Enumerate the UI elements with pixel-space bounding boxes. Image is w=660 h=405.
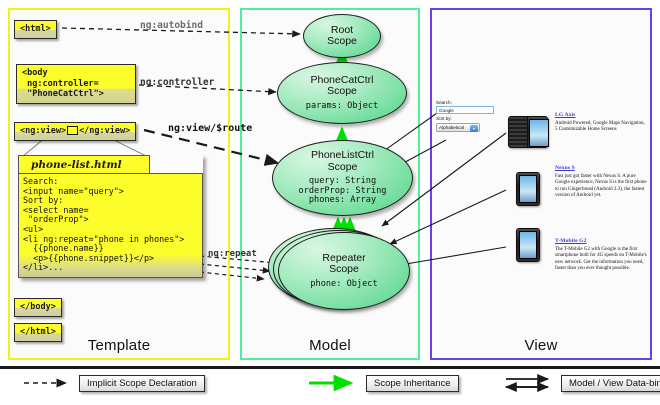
- panel-label-model: Model: [242, 337, 418, 354]
- code-card-phone-list: phone-list.html Search: <input name="que…: [18, 155, 203, 278]
- edge-label-ng-autobind: ng:autobind: [140, 20, 203, 31]
- phone-link-lg-axis[interactable]: LG Axis: [555, 112, 647, 118]
- scope-phonelistctrl-title: PhoneListCtrl Scope: [311, 150, 374, 173]
- legend-item-implicit-scope-declaration: Implicit Scope Declaration: [18, 374, 205, 392]
- sort-select[interactable]: Alphabetical▾: [436, 123, 480, 132]
- scope-root: Root Scope: [303, 14, 381, 58]
- scope-phonelistctrl: PhoneListCtrl Scope query: String orderP…: [272, 140, 413, 216]
- phone-image-t-mobile-g2: [516, 228, 540, 262]
- code-card-title: phone-list.html: [18, 155, 150, 173]
- sort-label: Sort by:: [436, 116, 500, 122]
- phone-screen: [519, 231, 537, 259]
- phone-entry-nexus-s: Nexus S Fast just got faster with Nexus …: [555, 165, 647, 200]
- phone-snippet-lg-axis: Android Powered, Google Maps Navigation,…: [555, 121, 647, 134]
- scope-repeater: Repeater Scope phone: Object: [278, 232, 410, 310]
- phone-keyboard: [509, 117, 528, 147]
- legend-divider: [0, 366, 660, 369]
- scope-phonecatctrl-title: PhoneCatCtrl Scope: [310, 75, 373, 98]
- legend-label-inheritance: Scope Inheritance: [366, 375, 459, 392]
- legend-label-databinding: Model / View Data-binding: [561, 375, 660, 392]
- body-line-1: <body: [22, 68, 48, 78]
- phone-link-t-mobile-g2[interactable]: T-Mobile G2: [555, 238, 647, 244]
- body-line-3: "PhoneCatCtrl">: [22, 89, 104, 99]
- phone-screen: [529, 119, 549, 147]
- phone-entry-t-mobile-g2: T-Mobile G2 The T-Mobile G2 with Google …: [555, 238, 647, 273]
- legend-item-scope-inheritance: Scope Inheritance: [305, 374, 459, 392]
- phone-snippet-nexus-s: Fast just got faster with Nexus S. A pur…: [555, 174, 647, 200]
- phone-screen: [519, 175, 537, 203]
- edge-label-ng-view-route: ng:view/$route: [168, 123, 252, 134]
- sort-select-value: Alphabetical: [439, 125, 464, 130]
- body-line-2: ng:controller=: [22, 79, 99, 89]
- legend: Implicit Scope Declaration Scope Inherit…: [0, 366, 660, 405]
- tag-ngview: <ng:view></ng:view>: [14, 122, 136, 141]
- legend-label-implicit: Implicit Scope Declaration: [79, 375, 205, 392]
- tag-html-open: <html>: [14, 20, 57, 39]
- tag-body-close: </body>: [14, 298, 62, 317]
- diagram-canvas: Template Model View: [0, 0, 660, 405]
- phone-image-lg-axis: [508, 116, 548, 148]
- scope-phonecatctrl-props: params: Object: [306, 102, 378, 112]
- phone-snippet-t-mobile-g2: The T-Mobile G2 with Google is the first…: [555, 247, 647, 273]
- phone-image-nexus-s: [516, 172, 540, 206]
- scope-root-title: Root Scope: [327, 25, 357, 48]
- legend-green-arrow-icon: [305, 374, 361, 392]
- tag-body-open: <body ng:controller= "PhoneCatCtrl">: [16, 64, 136, 104]
- edge-label-ng-repeat: ng:repeat: [208, 249, 257, 259]
- code-card-body: Search: <input name="query"> Sort by: <s…: [18, 173, 203, 278]
- legend-dashed-arrow-icon: [18, 374, 74, 392]
- ngview-close-label: </ng:view>: [79, 126, 130, 136]
- legend-item-model-view-databinding: Model / View Data-binding: [500, 374, 660, 392]
- view-search-form: Search: Google Sort by: Alphabetical▾: [436, 100, 500, 132]
- tag-html-close: </html>: [14, 323, 62, 342]
- chevron-down-icon: ▾: [470, 125, 478, 132]
- scope-repeater-title: Repeater Scope: [322, 253, 365, 276]
- panel-label-view: View: [432, 337, 650, 354]
- legend-double-arrow-icon: [500, 374, 556, 392]
- scope-repeater-props: phone: Object: [310, 280, 377, 290]
- search-input[interactable]: Google: [436, 106, 494, 114]
- ngview-slot-icon: [67, 126, 78, 135]
- scope-phonecatctrl: PhoneCatCtrl Scope params: Object: [277, 62, 407, 124]
- phone-entry-lg-axis: LG Axis Android Powered, Google Maps Nav…: [555, 112, 647, 134]
- edge-label-ng-controller: ng:controller: [140, 77, 214, 88]
- ngview-open-label: <ng:view>: [20, 126, 66, 136]
- phone-link-nexus-s[interactable]: Nexus S: [555, 165, 647, 171]
- scope-phonelistctrl-props: query: String orderProp: String phones: …: [299, 177, 387, 206]
